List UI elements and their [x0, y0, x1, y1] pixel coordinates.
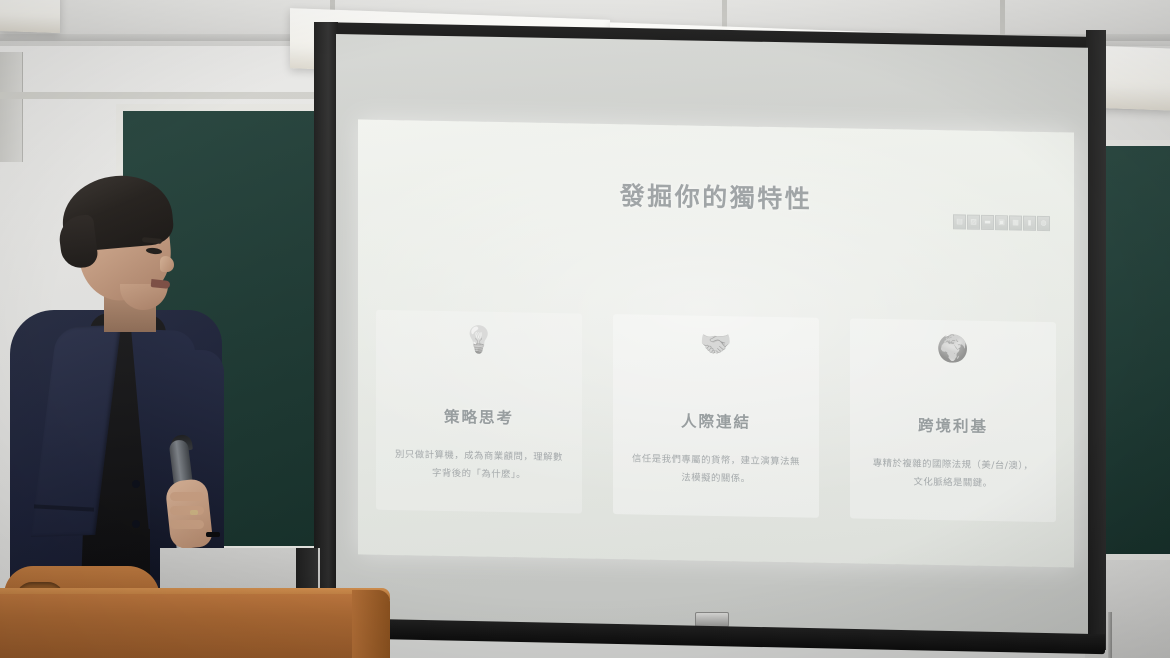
wall-trim: [0, 92, 352, 99]
feature-card: 🌍 跨境利基 專精於複雜的國際法規（美/台/澳），文化脈絡是關鍵。: [850, 318, 1056, 522]
image-icon[interactable]: ▬: [981, 215, 994, 230]
slide-toolbar[interactable]: ▤ ▨ ▬ ▣ ▦ ▮ ◍: [953, 214, 1050, 231]
finger: [170, 520, 204, 529]
chart-icon[interactable]: ▦: [1009, 215, 1022, 230]
ring: [190, 510, 198, 515]
classroom-scene: 發掘你的獨特性 ▤ ▨ ▬ ▣ ▦ ▮ ◍ 💡 策略思考 別只做計算機，成為商業…: [0, 0, 1170, 658]
feature-card: 💡 策略思考 別只做計算機，成為商業顧問，理解數字背後的「為什麼」。: [376, 310, 582, 514]
jacket-button: [132, 480, 140, 488]
projected-slide: 發掘你的獨特性 ▤ ▨ ▬ ▣ ▦ ▮ ◍ 💡 策略思考 別只做計算機，成為商業…: [358, 119, 1074, 567]
screen-support-pole: [1108, 612, 1112, 658]
doc-icon[interactable]: ▤: [953, 214, 966, 229]
feature-card: 🤝 人際連結 信任是我們專屬的貨幣，建立演算法無法模擬的關係。: [613, 314, 819, 518]
card-title: 跨境利基: [860, 413, 1046, 438]
ceiling-light-fixture: [0, 0, 60, 33]
card-body: 別只做計算機，成為商業顧問，理解數字背後的「為什麼」。: [386, 446, 572, 486]
shape-icon[interactable]: ▣: [995, 215, 1008, 230]
bold-icon[interactable]: ▮: [1023, 216, 1036, 231]
wall-panel: [0, 52, 23, 162]
wooden-podium: [0, 594, 390, 658]
handshake-icon: 🤝: [623, 330, 809, 359]
slide-title: 發掘你的獨特性: [358, 171, 1074, 220]
card-body: 專精於複雜的國際法規（美/台/澳），文化脈絡是關鍵。: [860, 455, 1046, 495]
globe-icon: 🌍: [860, 335, 1046, 364]
lightbulb-icon: 💡: [386, 326, 572, 355]
screen-pull-handle: [695, 612, 729, 627]
feature-card-row: 💡 策略思考 別只做計算機，成為商業顧問，理解數字背後的「為什麼」。 🤝 人際連…: [376, 310, 1056, 522]
podium-side-edge: [352, 590, 390, 658]
jacket-button: [132, 520, 140, 528]
finger: [170, 506, 204, 515]
settings-icon[interactable]: ◍: [1037, 216, 1050, 231]
screen-right-frame: [1086, 30, 1106, 650]
card-title: 人際連結: [623, 408, 809, 433]
text-icon[interactable]: ▨: [967, 215, 980, 230]
projection-screen: 發掘你的獨特性 ▤ ▨ ▬ ▣ ▦ ▮ ◍ 💡 策略思考 別只做計算機，成為商業…: [336, 34, 1088, 636]
card-body: 信任是我們專屬的貨幣，建立演算法無法模擬的關係。: [623, 450, 809, 490]
nose: [160, 256, 174, 272]
finger: [170, 492, 204, 501]
wristwatch: [206, 532, 220, 537]
card-title: 策略思考: [386, 404, 572, 429]
